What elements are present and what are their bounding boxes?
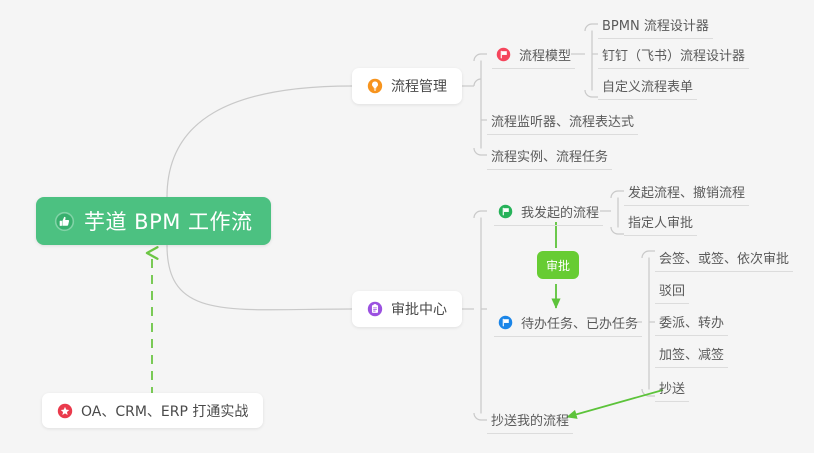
branch-process-management[interactable]: 流程管理 [352, 68, 462, 104]
node-add-remove-sign[interactable]: 加签、减签 [655, 339, 728, 368]
flag-blue-icon [498, 315, 513, 330]
node-start-cancel-label: 发起流程、撤销流程 [628, 182, 745, 201]
branch-approval-center-label: 审批中心 [391, 299, 447, 319]
node-bpmn-designer-label: BPMN 流程设计器 [602, 15, 709, 34]
node-custom-form[interactable]: 自定义流程表单 [598, 71, 697, 100]
branch-approval-center[interactable]: 审批中心 [352, 291, 462, 327]
node-cc[interactable]: 抄送 [655, 373, 689, 402]
node-reject[interactable]: 驳回 [655, 275, 689, 304]
node-bpmn-designer[interactable]: BPMN 流程设计器 [598, 10, 713, 39]
root-node[interactable]: 芋道 BPM 工作流 [36, 197, 271, 245]
node-delegate-transfer-label: 委派、转办 [659, 312, 724, 331]
node-instance-task[interactable]: 流程实例、流程任务 [487, 141, 612, 170]
footnote-node[interactable]: OA、CRM、ERP 打通实战 [42, 393, 263, 428]
thumbs-up-icon [54, 211, 75, 232]
node-assignee-approve[interactable]: 指定人审批 [624, 207, 697, 236]
node-dingtalk-designer-label: 钉钉（飞书）流程设计器 [602, 45, 745, 64]
node-delegate-transfer[interactable]: 委派、转办 [655, 307, 728, 336]
node-start-cancel[interactable]: 发起流程、撤销流程 [624, 177, 749, 206]
node-my-started-process[interactable]: 我发起的流程 [494, 197, 603, 226]
node-todo-done-task-label: 待办任务、已办任务 [521, 313, 638, 332]
star-icon [57, 403, 73, 419]
approval-badge-label: 审批 [546, 257, 570, 274]
node-listener-expression-label: 流程监听器、流程表达式 [491, 111, 634, 130]
node-add-remove-sign-label: 加签、减签 [659, 344, 724, 363]
mindmap-canvas: 芋道 BPM 工作流 流程管理 流程模型 BPMN 流程设计器 钉钉（飞书）流程… [0, 0, 814, 453]
node-custom-form-label: 自定义流程表单 [602, 76, 693, 95]
node-process-model[interactable]: 流程模型 [492, 40, 575, 69]
node-listener-expression[interactable]: 流程监听器、流程表达式 [487, 106, 638, 135]
node-cc-label: 抄送 [659, 378, 685, 397]
node-cc-to-me-label: 抄送我的流程 [491, 410, 569, 429]
flag-green-icon [498, 204, 513, 219]
node-process-model-label: 流程模型 [519, 45, 571, 64]
node-countersign-label: 会签、或签、依次审批 [659, 248, 789, 267]
flag-red-icon [496, 47, 511, 62]
clipboard-icon [367, 301, 383, 317]
branch-process-management-label: 流程管理 [391, 76, 447, 96]
approval-badge[interactable]: 审批 [537, 251, 579, 279]
node-dingtalk-designer[interactable]: 钉钉（飞书）流程设计器 [598, 40, 749, 69]
node-assignee-approve-label: 指定人审批 [628, 212, 693, 231]
node-countersign[interactable]: 会签、或签、依次审批 [655, 243, 793, 272]
lightbulb-icon [367, 78, 383, 94]
node-instance-task-label: 流程实例、流程任务 [491, 146, 608, 165]
root-label: 芋道 BPM 工作流 [84, 206, 253, 236]
node-reject-label: 驳回 [659, 280, 685, 299]
node-todo-done-task[interactable]: 待办任务、已办任务 [494, 308, 642, 337]
node-cc-to-me[interactable]: 抄送我的流程 [487, 405, 573, 434]
node-my-started-process-label: 我发起的流程 [521, 202, 599, 221]
footnote-label: OA、CRM、ERP 打通实战 [81, 401, 248, 421]
